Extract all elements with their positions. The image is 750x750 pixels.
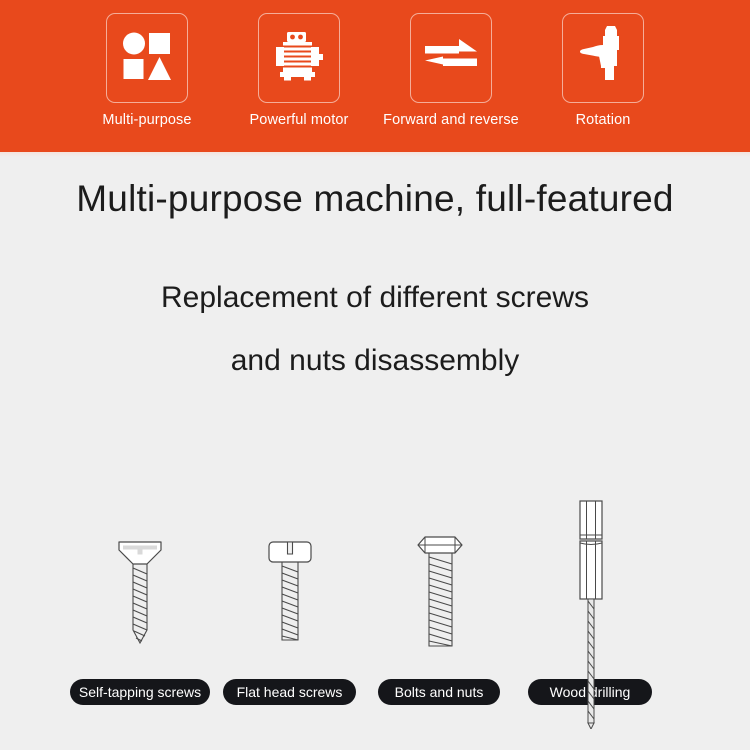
icon-box-rotation (562, 13, 644, 103)
two-way-arrows-icon (423, 36, 479, 81)
feature-list: Multi-purpose (0, 0, 750, 152)
feature-label-forward-reverse: Forward and reverse (383, 112, 519, 128)
wood-drill-bit-art (515, 480, 665, 680)
feature-item-multi-purpose: Multi-purpose (71, 0, 223, 128)
icon-box-powerful-motor (258, 13, 340, 103)
part-label-flat-head-screw: Flat head screws (223, 679, 356, 705)
feature-item-powerful-motor: Powerful motor (223, 0, 375, 128)
subtitle-line-1: Replacement of different screws (0, 281, 750, 315)
part-item-hex-bolt: Bolts and nuts (365, 480, 515, 750)
power-drill-icon (577, 25, 629, 92)
shapes-icon (121, 30, 173, 87)
feature-label-rotation: Rotation (576, 112, 631, 128)
feature-label-powerful-motor: Powerful motor (250, 112, 349, 128)
part-label-hex-bolt: Bolts and nuts (378, 679, 500, 705)
product-feature-banner: Multi-purpose (0, 0, 750, 750)
icon-box-forward-reverse (410, 13, 492, 103)
icon-box-multi-purpose (106, 13, 188, 103)
part-item-self-tapping-screw: Self-tapping screws (65, 480, 215, 750)
part-label-self-tapping-screw: Self-tapping screws (70, 679, 210, 705)
electric-motor-icon (271, 30, 327, 87)
hex-bolt-art (365, 480, 515, 680)
part-label-wood-drill-bit: Wood drilling (528, 679, 652, 705)
page-title: Multi-purpose machine, full-featured (0, 178, 750, 220)
parts-gallery: Self-tapping screws (0, 480, 750, 750)
part-item-wood-drill-bit: Wood drilling (515, 480, 665, 750)
flat-head-screw-art (215, 480, 365, 680)
feature-item-rotation: Rotation (527, 0, 679, 128)
part-item-flat-head-screw: Flat head screws (215, 480, 365, 750)
feature-item-forward-reverse: Forward and reverse (375, 0, 527, 128)
self-tapping-screw-art (65, 480, 215, 680)
band-fade-divider (0, 152, 750, 157)
subtitle-line-2: and nuts disassembly (0, 344, 750, 378)
feature-label-multi-purpose: Multi-purpose (102, 112, 191, 128)
